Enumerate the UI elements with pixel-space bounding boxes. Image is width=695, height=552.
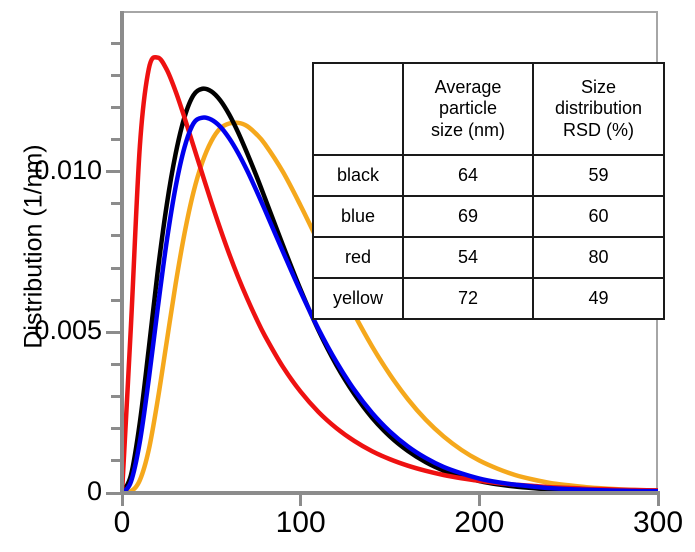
table-cell-size-distribution-rsd: 80: [533, 237, 664, 278]
y-tick-minor-0: [111, 459, 122, 462]
x-tick-major-0: [121, 491, 124, 506]
x-tick-label-3: 300: [618, 508, 695, 538]
y-tick-minor-9: [111, 106, 122, 109]
y-tick-minor-5: [111, 267, 122, 270]
table-cell-average-particle-size: 64: [403, 155, 533, 196]
x-tick-major-3: [657, 491, 660, 506]
y-tick-minor-2: [111, 395, 122, 398]
table-cell-size-distribution-rsd: 60: [533, 196, 664, 237]
x-tick-label-1: 100: [261, 508, 341, 538]
table-header-corner: [313, 63, 403, 155]
x-tick-label-0: 0: [82, 508, 162, 538]
table-row-blue: blue6960: [313, 196, 664, 237]
y-tick-minor-6: [111, 234, 122, 237]
table-cell-series-name: red: [313, 237, 403, 278]
particle-size-distribution-figure: 00.0050.0100100200300 Distribution (1/nm…: [0, 0, 695, 552]
y-axis-line: [120, 11, 124, 495]
header-rsd-line2: distribution: [536, 98, 661, 119]
y-axis-title: Distribution (1/nm): [22, 67, 47, 427]
header-rsd-line3: RSD (%): [536, 120, 661, 141]
table-cell-average-particle-size: 54: [403, 237, 533, 278]
table-row-red: red5480: [313, 237, 664, 278]
table-cell-size-distribution-rsd: 59: [533, 155, 664, 196]
y-tick-minor-3: [111, 363, 122, 366]
table-cell-size-distribution-rsd: 49: [533, 278, 664, 319]
x-tick-label-2: 200: [439, 508, 519, 538]
x-tick-major-2: [478, 491, 481, 506]
table-cell-series-name: blue: [313, 196, 403, 237]
y-tick-minor-10: [111, 74, 122, 77]
table-row-yellow: yellow7249: [313, 278, 664, 319]
header-size-line1: Average: [406, 77, 530, 98]
table-header-size-distribution-rsd: Size distribution RSD (%): [533, 63, 664, 155]
y-tick-major-2: [106, 170, 122, 173]
y-tick-minor-7: [111, 202, 122, 205]
table-cell-average-particle-size: 72: [403, 278, 533, 319]
table-cell-series-name: yellow: [313, 278, 403, 319]
y-tick-minor-4: [111, 299, 122, 302]
table-cell-average-particle-size: 69: [403, 196, 533, 237]
y-tick-minor-1: [111, 427, 122, 430]
header-rsd-line1: Size: [536, 77, 661, 98]
header-size-line2: particle: [406, 98, 530, 119]
summary-table: Average particle size (nm) Size distribu…: [312, 62, 665, 320]
header-size-line3: size (nm): [406, 120, 530, 141]
y-tick-minor-8: [111, 138, 122, 141]
y-tick-minor-11: [111, 42, 122, 45]
table-cell-series-name: black: [313, 155, 403, 196]
x-axis-line: [120, 491, 660, 495]
y-tick-major-1: [106, 331, 122, 334]
x-tick-major-1: [299, 491, 302, 506]
summary-table-body: black6459blue6960red5480yellow7249: [313, 155, 664, 319]
table-header-average-particle-size: Average particle size (nm): [403, 63, 533, 155]
table-row-black: black6459: [313, 155, 664, 196]
table-header-row: Average particle size (nm) Size distribu…: [313, 63, 664, 155]
y-tick-label-0: 0: [87, 478, 102, 505]
